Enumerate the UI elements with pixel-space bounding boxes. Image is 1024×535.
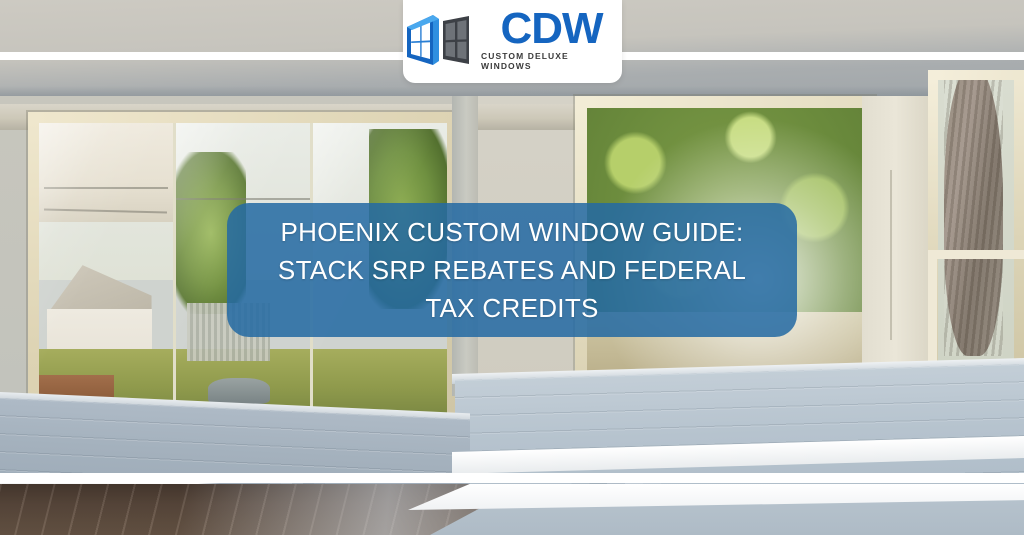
logo-lockup: CDW CUSTOM DELUXE WINDOWS — [403, 9, 622, 71]
brand-logo-card[interactable]: CDW CUSTOM DELUXE WINDOWS — [403, 0, 622, 83]
logo-tagline: CUSTOM DELUXE WINDOWS — [481, 51, 622, 71]
logo-name: CDW — [500, 9, 602, 49]
bottom-separator-band — [0, 473, 1024, 483]
pier-seam — [890, 170, 892, 340]
title-banner: PHOENIX CUSTOM WINDOW GUIDE: STACK SRP R… — [227, 203, 797, 337]
hero-banner-image: CDW CUSTOM DELUXE WINDOWS PHOENIX CUSTOM… — [0, 0, 1024, 535]
logo-wordmark: CDW CUSTOM DELUXE WINDOWS — [481, 9, 622, 71]
page-title: PHOENIX CUSTOM WINDOW GUIDE: STACK SRP R… — [253, 213, 771, 327]
window-logo-icon — [403, 11, 477, 69]
